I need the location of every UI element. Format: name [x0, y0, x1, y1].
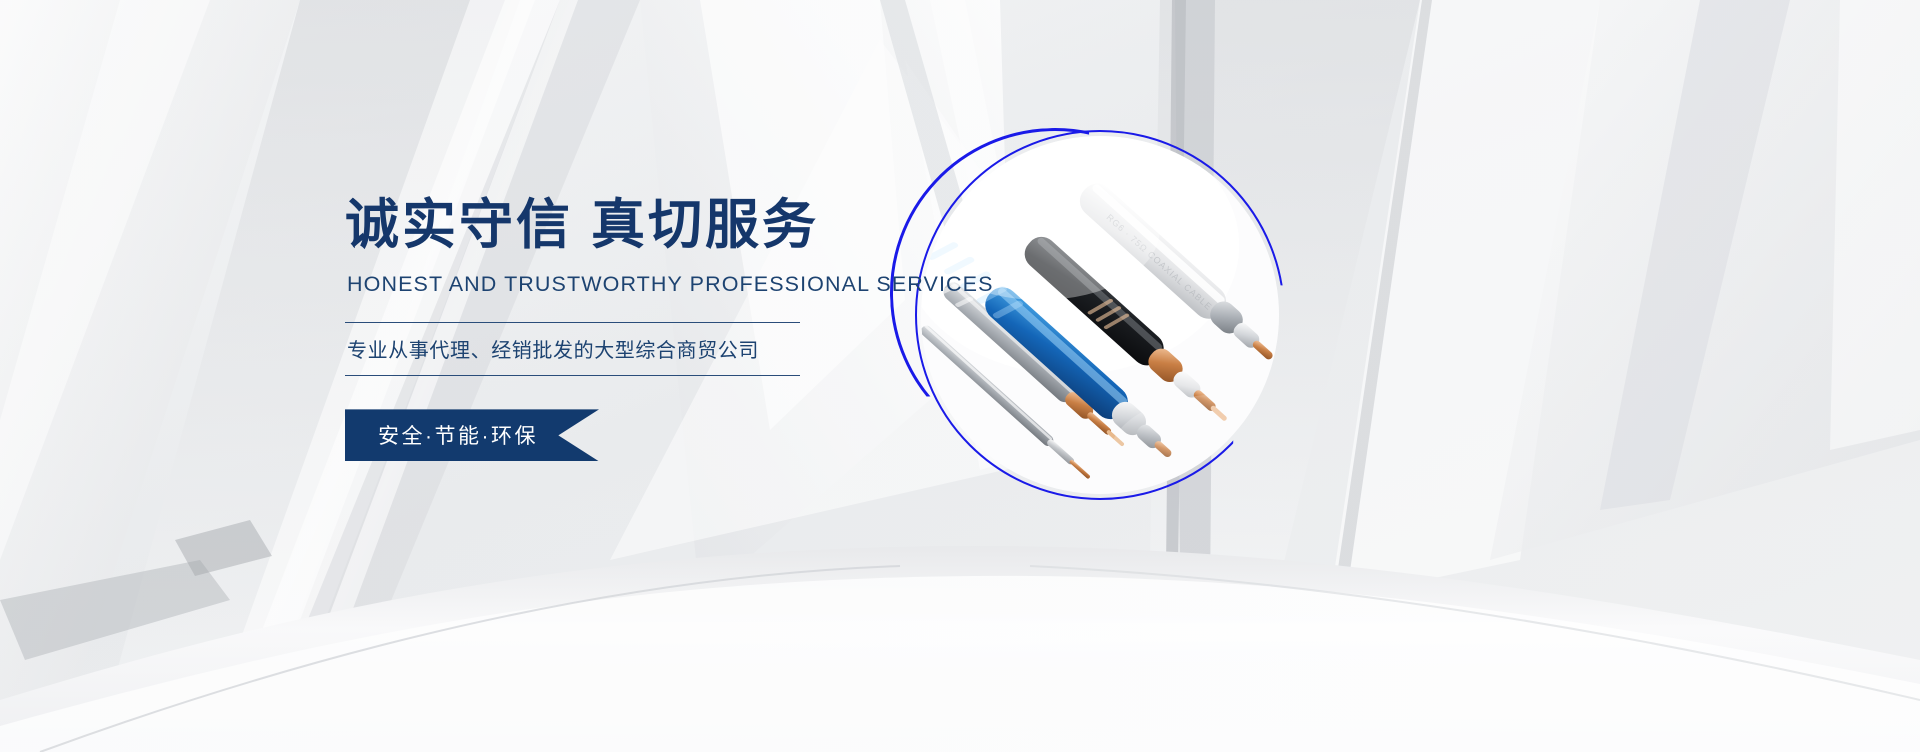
feature-ribbon: 安全·节能·环保	[345, 409, 599, 461]
subtitle: HONEST AND TRUSTWORTHY PROFESSIONAL SERV…	[347, 272, 885, 297]
description-box: 专业从事代理、经销批发的大型综合商贸公司	[345, 322, 800, 376]
feature-ribbon-label: 安全·节能·环保	[345, 420, 538, 450]
banner-text-block: 诚实守信 真切服务 HONEST AND TRUSTWORTHY PROFESS…	[345, 196, 885, 461]
promo-banner: RG6 · 75Ω COAXIAL CABLE 诚实守信 真切服务 HONEST…	[0, 0, 1920, 752]
description-text: 专业从事代理、经销批发的大型综合商贸公司	[347, 334, 800, 363]
page-title: 诚实守信 真切服务	[345, 196, 885, 254]
